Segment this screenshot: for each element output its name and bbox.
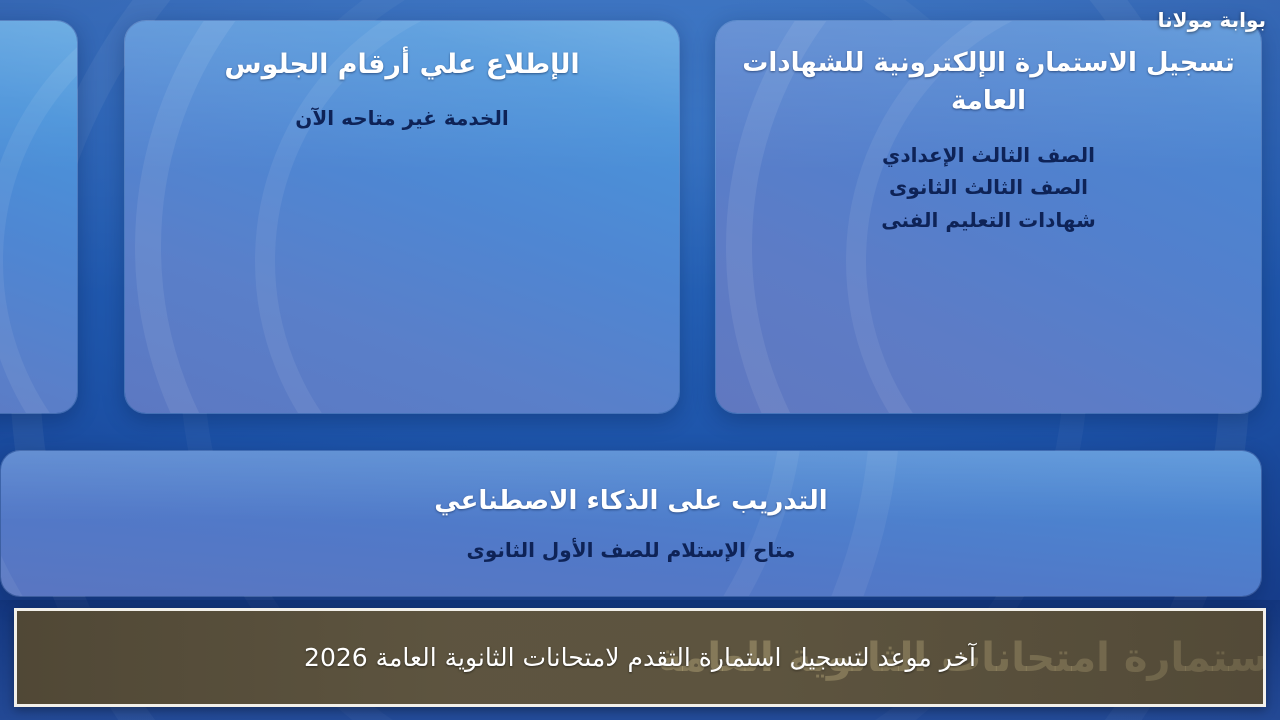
card-content: الإطلاع علي أرقام الجلوس الخدمة غير متاح… [125, 21, 679, 413]
page-background: ق ل إذا ل الحد الإطلاع علي أرقام الجلوس … [0, 0, 1280, 720]
card-subtext-line: الخدمة غير متاحه الآن [151, 102, 653, 134]
card-subtext-line: الصف الثالث الإعدادي [742, 139, 1235, 171]
service-cards-row: ق ل إذا ل الحد الإطلاع علي أرقام الجلوس … [0, 20, 1280, 414]
banner-title: التدريب على الذكاء الاصطناعي [434, 486, 827, 516]
card-title-line: تسجيل الاستمارة الإلكترونية [873, 48, 1234, 78]
card-subtext-line: شهادات التعليم الفنى [742, 204, 1235, 236]
service-card-electronic-form[interactable]: تسجيل الاستمارة الإلكترونية للشهادات الع… [715, 20, 1262, 414]
banner-subtext: متاح الإستلام للصف الأول الثانوى [467, 538, 796, 562]
card-subtext: الخدمة غير متاحه الآن [151, 102, 653, 134]
card-title: تسجيل الاستمارة الإلكترونية للشهادات الع… [742, 45, 1235, 121]
card-subtext: الصف الثالث الإعدادي الصف الثالث الثانوى… [742, 139, 1235, 236]
card-title: ق ل [0, 45, 51, 82]
caption-text: آخر موعد لتسجيل استمارة التقدم لامتحانات… [17, 611, 1263, 704]
card-subtext-line: إذا ل [0, 100, 51, 131]
watermark: بوابة مولانا [1158, 8, 1266, 32]
service-card-left-cropped[interactable]: ق ل إذا ل الحد [0, 20, 78, 414]
card-subtext-line: الصف الثالث الثانوى [742, 171, 1235, 203]
service-card-seat-numbers[interactable]: الإطلاع علي أرقام الجلوس الخدمة غير متاح… [124, 20, 680, 414]
caption-bar: استمارة امتحانات الثانوية العامة آخر موع… [14, 608, 1266, 707]
card-content: ق ل إذا ل الحد [0, 21, 77, 413]
service-banner-ai-training[interactable]: التدريب على الذكاء الاصطناعي متاح الإستل… [0, 450, 1262, 597]
banner-content: التدريب على الذكاء الاصطناعي متاح الإستل… [1, 451, 1261, 596]
card-subtext-line: الحد [0, 130, 51, 161]
card-subtext: إذا ل الحد [0, 100, 51, 162]
card-content: تسجيل الاستمارة الإلكترونية للشهادات الع… [716, 21, 1261, 413]
card-title: الإطلاع علي أرقام الجلوس [151, 45, 653, 84]
